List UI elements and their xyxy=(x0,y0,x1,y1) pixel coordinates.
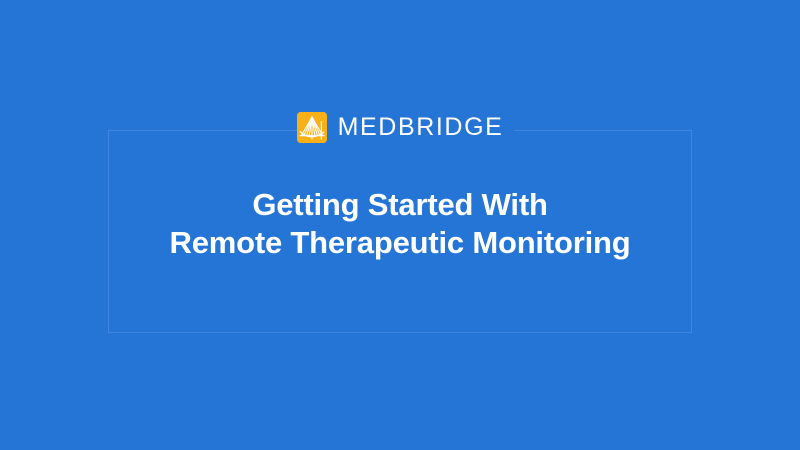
slide-title-line-1: Getting Started With xyxy=(108,186,692,224)
slide-title-line-2: Remote Therapeutic Monitoring xyxy=(108,224,692,262)
brand-wordmark: MEDBRIDGE xyxy=(338,115,504,140)
title-slide: MEDBRIDGE Getting Started With Remote Th… xyxy=(0,0,800,450)
slide-title: Getting Started With Remote Therapeutic … xyxy=(108,186,692,262)
medbridge-bridge-logo-icon xyxy=(297,112,327,143)
brand-logo-lockup: MEDBRIDGE xyxy=(0,111,800,143)
